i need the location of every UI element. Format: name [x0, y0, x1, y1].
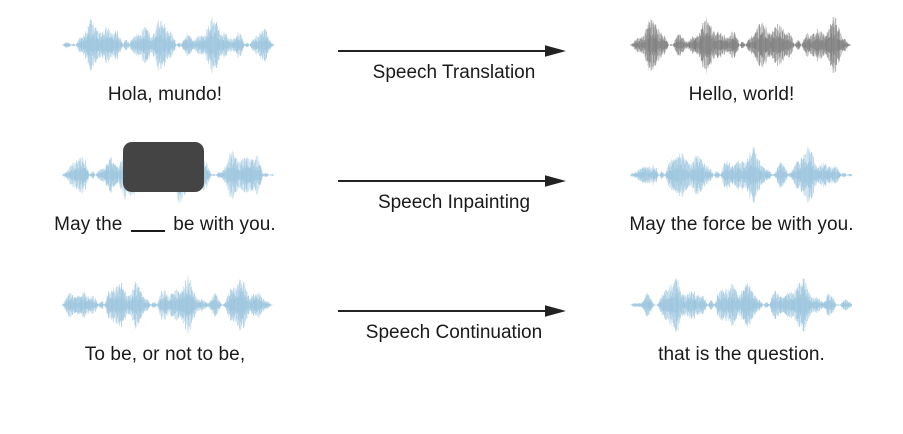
- source-audio-cell: Hola, mundo!: [0, 6, 330, 136]
- target-waveform: [630, 144, 852, 206]
- target-waveform: [630, 14, 852, 76]
- target-audio-cell: that is the question.: [580, 266, 903, 396]
- task-row: Hola, mundo! Speech Translation Hello, w…: [0, 6, 903, 136]
- target-caption: Hello, world!: [580, 82, 903, 108]
- operation-label: Speech Translation: [320, 60, 588, 86]
- source-caption: Hola, mundo!: [0, 82, 330, 108]
- operation-label: Speech Continuation: [320, 320, 588, 346]
- source-waveform: [62, 144, 274, 206]
- arrow-right-icon: [338, 44, 566, 58]
- caption-prefix: May the: [54, 214, 128, 235]
- task-row: May the be with you. Speech Inpainting M…: [0, 136, 903, 266]
- operation-cell: Speech Inpainting: [320, 136, 590, 266]
- target-audio-cell: Hello, world!: [580, 6, 903, 136]
- operation-cell: Speech Translation: [320, 6, 590, 136]
- audio-mask-block: [123, 142, 204, 192]
- caption-suffix: be with you.: [168, 214, 276, 235]
- target-waveform: [630, 274, 852, 336]
- source-audio-cell: May the be with you.: [0, 136, 330, 266]
- source-caption: May the be with you.: [0, 212, 330, 238]
- target-caption: May the force be with you.: [580, 212, 903, 238]
- arrow-right-icon: [338, 304, 566, 318]
- target-caption: that is the question.: [580, 342, 903, 368]
- source-caption: To be, or not to be,: [0, 342, 330, 368]
- target-audio-cell: May the force be with you.: [580, 136, 903, 266]
- source-audio-cell: To be, or not to be,: [0, 266, 330, 396]
- operation-cell: Speech Continuation: [320, 266, 590, 396]
- source-waveform: [62, 274, 274, 336]
- speech-tasks-figure: Hola, mundo! Speech Translation Hello, w…: [0, 0, 903, 434]
- task-row: To be, or not to be, Speech Continuation…: [0, 266, 903, 396]
- arrow-right-icon: [338, 174, 566, 188]
- source-waveform: [62, 14, 274, 76]
- operation-label: Speech Inpainting: [320, 190, 588, 216]
- masked-word-blank: [131, 230, 165, 232]
